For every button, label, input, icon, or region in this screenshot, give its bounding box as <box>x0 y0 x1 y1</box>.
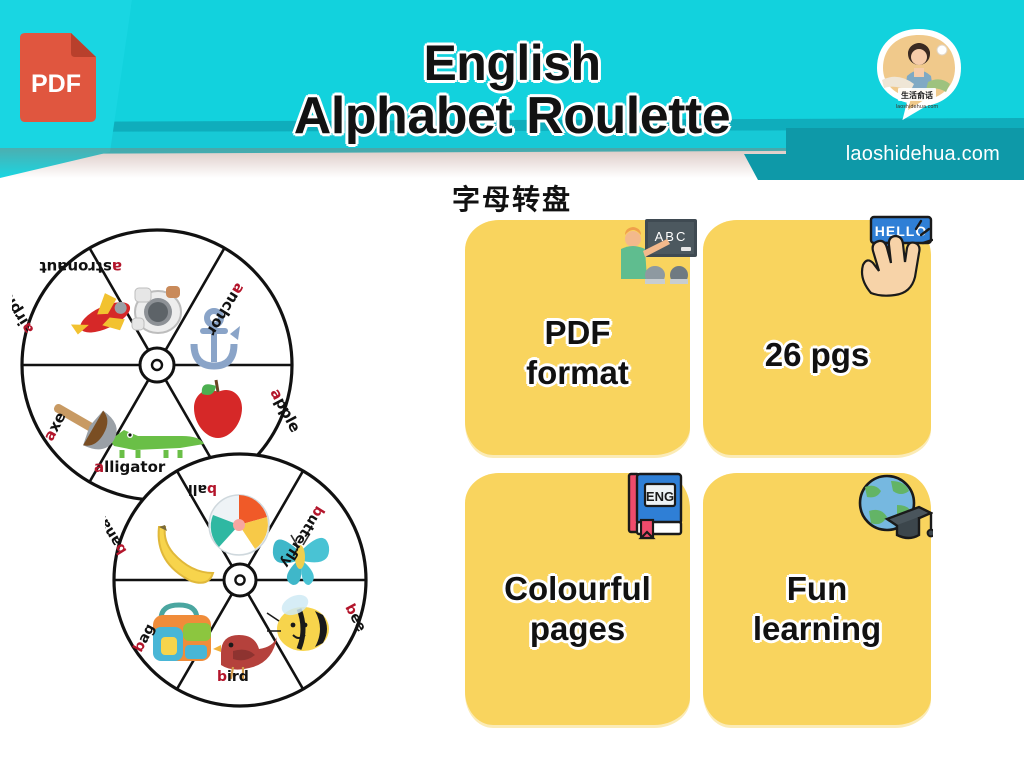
card-4-line-2: learning <box>703 609 931 649</box>
astronaut-icon <box>132 286 181 333</box>
page-title: English Alphabet Roulette <box>0 38 1024 142</box>
english-book-icon: ENG <box>621 470 687 545</box>
card-4-line-1: Fun <box>703 569 931 609</box>
teacher-blackboard-abc-icon: ABC <box>611 217 699 290</box>
card-3-line-2: pages <box>465 609 690 649</box>
laoshidehua-logo[interactable]: 生活俞话 laoshidehua.com <box>874 28 964 120</box>
ball-icon <box>209 495 269 555</box>
title-line-alphabet-roulette: Alphabet Roulette <box>294 90 730 142</box>
svg-text:astronaut: astronaut <box>39 258 122 276</box>
roulette-wheels-preview: astronaut anchor apple alligator axe air… <box>0 205 455 725</box>
card-2-line-1: 26 pgs <box>703 335 931 375</box>
title-line-english: English <box>423 38 600 88</box>
svg-text:ball: ball <box>188 481 217 497</box>
website-ribbon[interactable]: laoshidehua.com <box>744 128 1024 180</box>
page-header: PDF English Alphabet Roulette laoshidehu… <box>0 0 1024 185</box>
card-1-line-2: format <box>465 353 690 393</box>
svg-text:airplane: airplane <box>12 269 37 338</box>
svg-text:ENG: ENG <box>646 489 674 504</box>
svg-text:bird: bird <box>217 669 249 685</box>
waving-hand-hello-icon: HELLO <box>853 215 933 302</box>
feature-cards: PDF format ABC 26 pgs HELLO <box>463 215 943 730</box>
logo-caption-url: laoshidehua.com <box>896 104 939 110</box>
card-3-line-1: Colourful <box>465 569 690 609</box>
website-url-label: laoshidehua.com <box>846 143 1000 166</box>
globe-graduation-cap-icon <box>853 473 933 548</box>
card-1-line-1: PDF <box>465 313 690 353</box>
logo-caption-cn: 生活俞话 <box>901 90 933 100</box>
svg-text:ABC: ABC <box>655 229 688 244</box>
alphabet-wheel-b[interactable]: ball butterfly bee bird bag banana <box>105 445 375 720</box>
